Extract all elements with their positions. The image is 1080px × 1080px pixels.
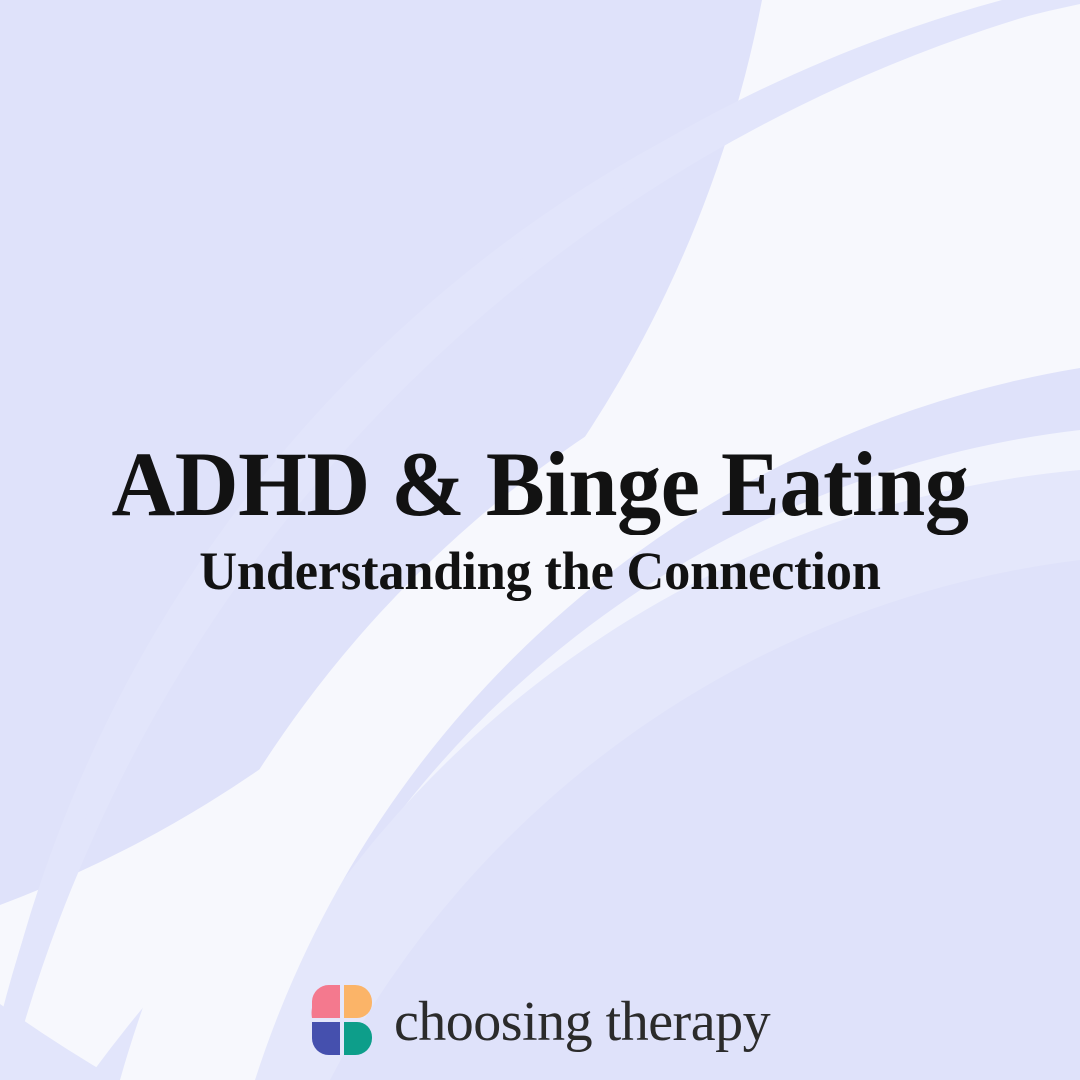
brand-lockup: choosing therapy <box>0 976 1080 1064</box>
brand-wordmark: choosing therapy <box>394 994 770 1050</box>
page-subtitle: Understanding the Connection <box>16 544 1064 598</box>
hero-text-block: ADHD & Binge Eating Understanding the Co… <box>0 438 1080 598</box>
page-title: ADHD & Binge Eating <box>22 438 1059 530</box>
logo-petal-top-left-fill <box>312 985 340 1018</box>
choosing-therapy-logo-mark <box>310 983 372 1057</box>
logo-petal-top-right <box>344 985 372 1018</box>
logo-petal-bottom-right <box>344 1022 372 1055</box>
social-share-card: ADHD & Binge Eating Understanding the Co… <box>0 0 1080 1080</box>
logo-petal-bottom-left <box>312 1022 340 1055</box>
